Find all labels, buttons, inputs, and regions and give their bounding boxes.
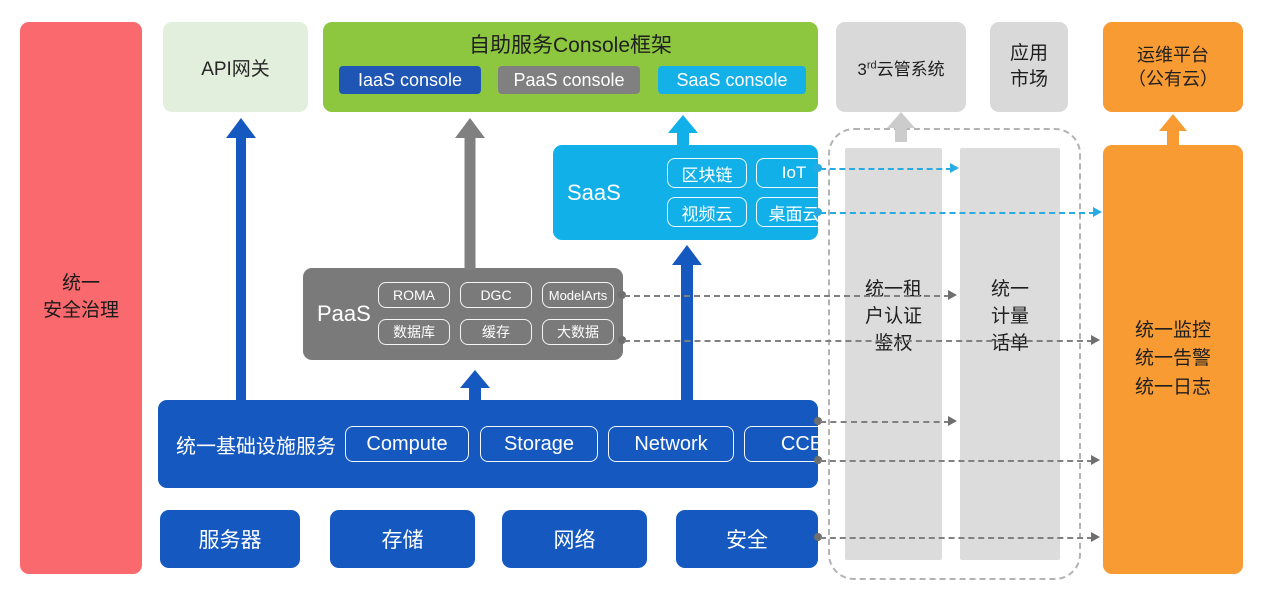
infra-service-compute[interactable]: Compute: [345, 426, 469, 462]
infra-service-storage[interactable]: Storage: [480, 426, 598, 462]
third-party-cloud-management-box: 3rd云管系统: [836, 22, 966, 112]
saas-label: SaaS: [567, 145, 621, 240]
saas-console-chip[interactable]: SaaS console: [658, 66, 806, 94]
connector-arrowhead-infra-ops: [1091, 455, 1100, 465]
resource-box-security[interactable]: 安全: [676, 510, 818, 568]
arrow-shared-to-third-party: [886, 112, 916, 142]
resource-box-network[interactable]: 网络: [502, 510, 647, 568]
saas-service-iot[interactable]: IoT: [756, 158, 832, 188]
paas-block: PaaS ROMA DGC ModelArts 数据库 缓存 大数据: [303, 268, 623, 360]
app-market-box: 应用 市场: [990, 22, 1068, 112]
paas-service-database[interactable]: 数据库: [378, 319, 450, 345]
connector-arrowhead-saas-auth: [950, 163, 959, 173]
connector-arrowhead-paas-auth: [948, 290, 957, 300]
self-service-console-framework: 自助服务Console框架 IaaS console PaaS console …: [323, 22, 818, 112]
resource-label-storage: 存储: [382, 524, 424, 554]
architecture-diagram: 统一 安全治理 API网关 自助服务Console框架 IaaS console…: [0, 0, 1265, 605]
resource-box-server[interactable]: 服务器: [160, 510, 300, 568]
ops-platform-main-label: 统一监控 统一告警 统一日志: [1135, 317, 1211, 403]
infra-service-network[interactable]: Network: [608, 426, 734, 462]
resource-box-storage[interactable]: 存储: [330, 510, 475, 568]
arrow-ops-main-to-ops-top: [1158, 114, 1188, 146]
unified-infrastructure-label: 统一基础设施服务: [176, 400, 336, 488]
paas-console-chip[interactable]: PaaS console: [498, 66, 640, 94]
saas-service-blockchain[interactable]: 区块链: [667, 158, 747, 188]
paas-service-dgc[interactable]: DGC: [460, 282, 532, 308]
connector-resources-to-ops: [820, 537, 1093, 539]
resource-label-security: 安全: [726, 524, 768, 554]
unified-tenant-auth-label: 统一租 户认证 鉴权: [845, 275, 942, 360]
paas-label: PaaS: [317, 268, 371, 360]
connector-arrowhead-paas-ops: [1091, 335, 1100, 345]
resource-label-network: 网络: [554, 524, 596, 554]
unified-security-governance-label: 统一 安全治理: [43, 271, 119, 325]
ops-platform-monitoring-column: 统一监控 统一告警 统一日志: [1103, 145, 1243, 574]
paas-service-cache[interactable]: 缓存: [460, 319, 532, 345]
console-framework-title: 自助服务Console框架: [323, 22, 818, 66]
arrow-infra-to-saas: [672, 245, 702, 402]
connector-infra-to-auth: [820, 421, 950, 423]
arrow-infra-to-api-gateway: [226, 118, 256, 400]
ops-platform-top-label: 运维平台 （公有云）: [1128, 43, 1218, 92]
third-party-label: 3rd云管系统: [857, 55, 944, 80]
connector-paas-to-ops: [624, 340, 1093, 342]
connector-arrowhead-resources-ops: [1091, 532, 1100, 542]
connector-arrowhead-saas-ops: [1093, 207, 1102, 217]
ops-platform-public-cloud-box: 运维平台 （公有云）: [1103, 22, 1243, 112]
iaas-console-chip[interactable]: IaaS console: [339, 66, 481, 94]
arrow-infra-to-paas: [460, 370, 490, 402]
api-gateway-box: API网关: [163, 22, 308, 112]
api-gateway-label: API网关: [201, 54, 270, 81]
app-market-label: 应用 市场: [1010, 41, 1048, 92]
connector-saas-to-auth: [820, 168, 952, 170]
connector-infra-to-ops: [820, 460, 1093, 462]
connector-arrowhead-infra-auth: [948, 416, 957, 426]
third-party-ordinal-sup: rd: [867, 59, 877, 71]
unified-billing-label: 统一 计量 话单: [960, 275, 1060, 360]
saas-service-video-cloud[interactable]: 视频云: [667, 197, 747, 227]
paas-service-bigdata[interactable]: 大数据: [542, 319, 614, 345]
saas-block: SaaS 区块链 IoT 视频云 桌面云: [553, 145, 818, 240]
connector-paas-to-auth: [624, 295, 950, 297]
paas-service-roma[interactable]: ROMA: [378, 282, 450, 308]
arrow-paas-to-console: [455, 118, 485, 270]
arrow-saas-to-console: [668, 115, 698, 147]
resource-label-server: 服务器: [199, 524, 262, 554]
paas-service-modelarts[interactable]: ModelArts: [542, 282, 614, 308]
unified-infrastructure-service-bar: 统一基础设施服务 Compute Storage Network CCE: [158, 400, 818, 488]
unified-security-governance-column: 统一 安全治理: [20, 22, 142, 574]
connector-saas-to-ops: [820, 212, 1095, 214]
